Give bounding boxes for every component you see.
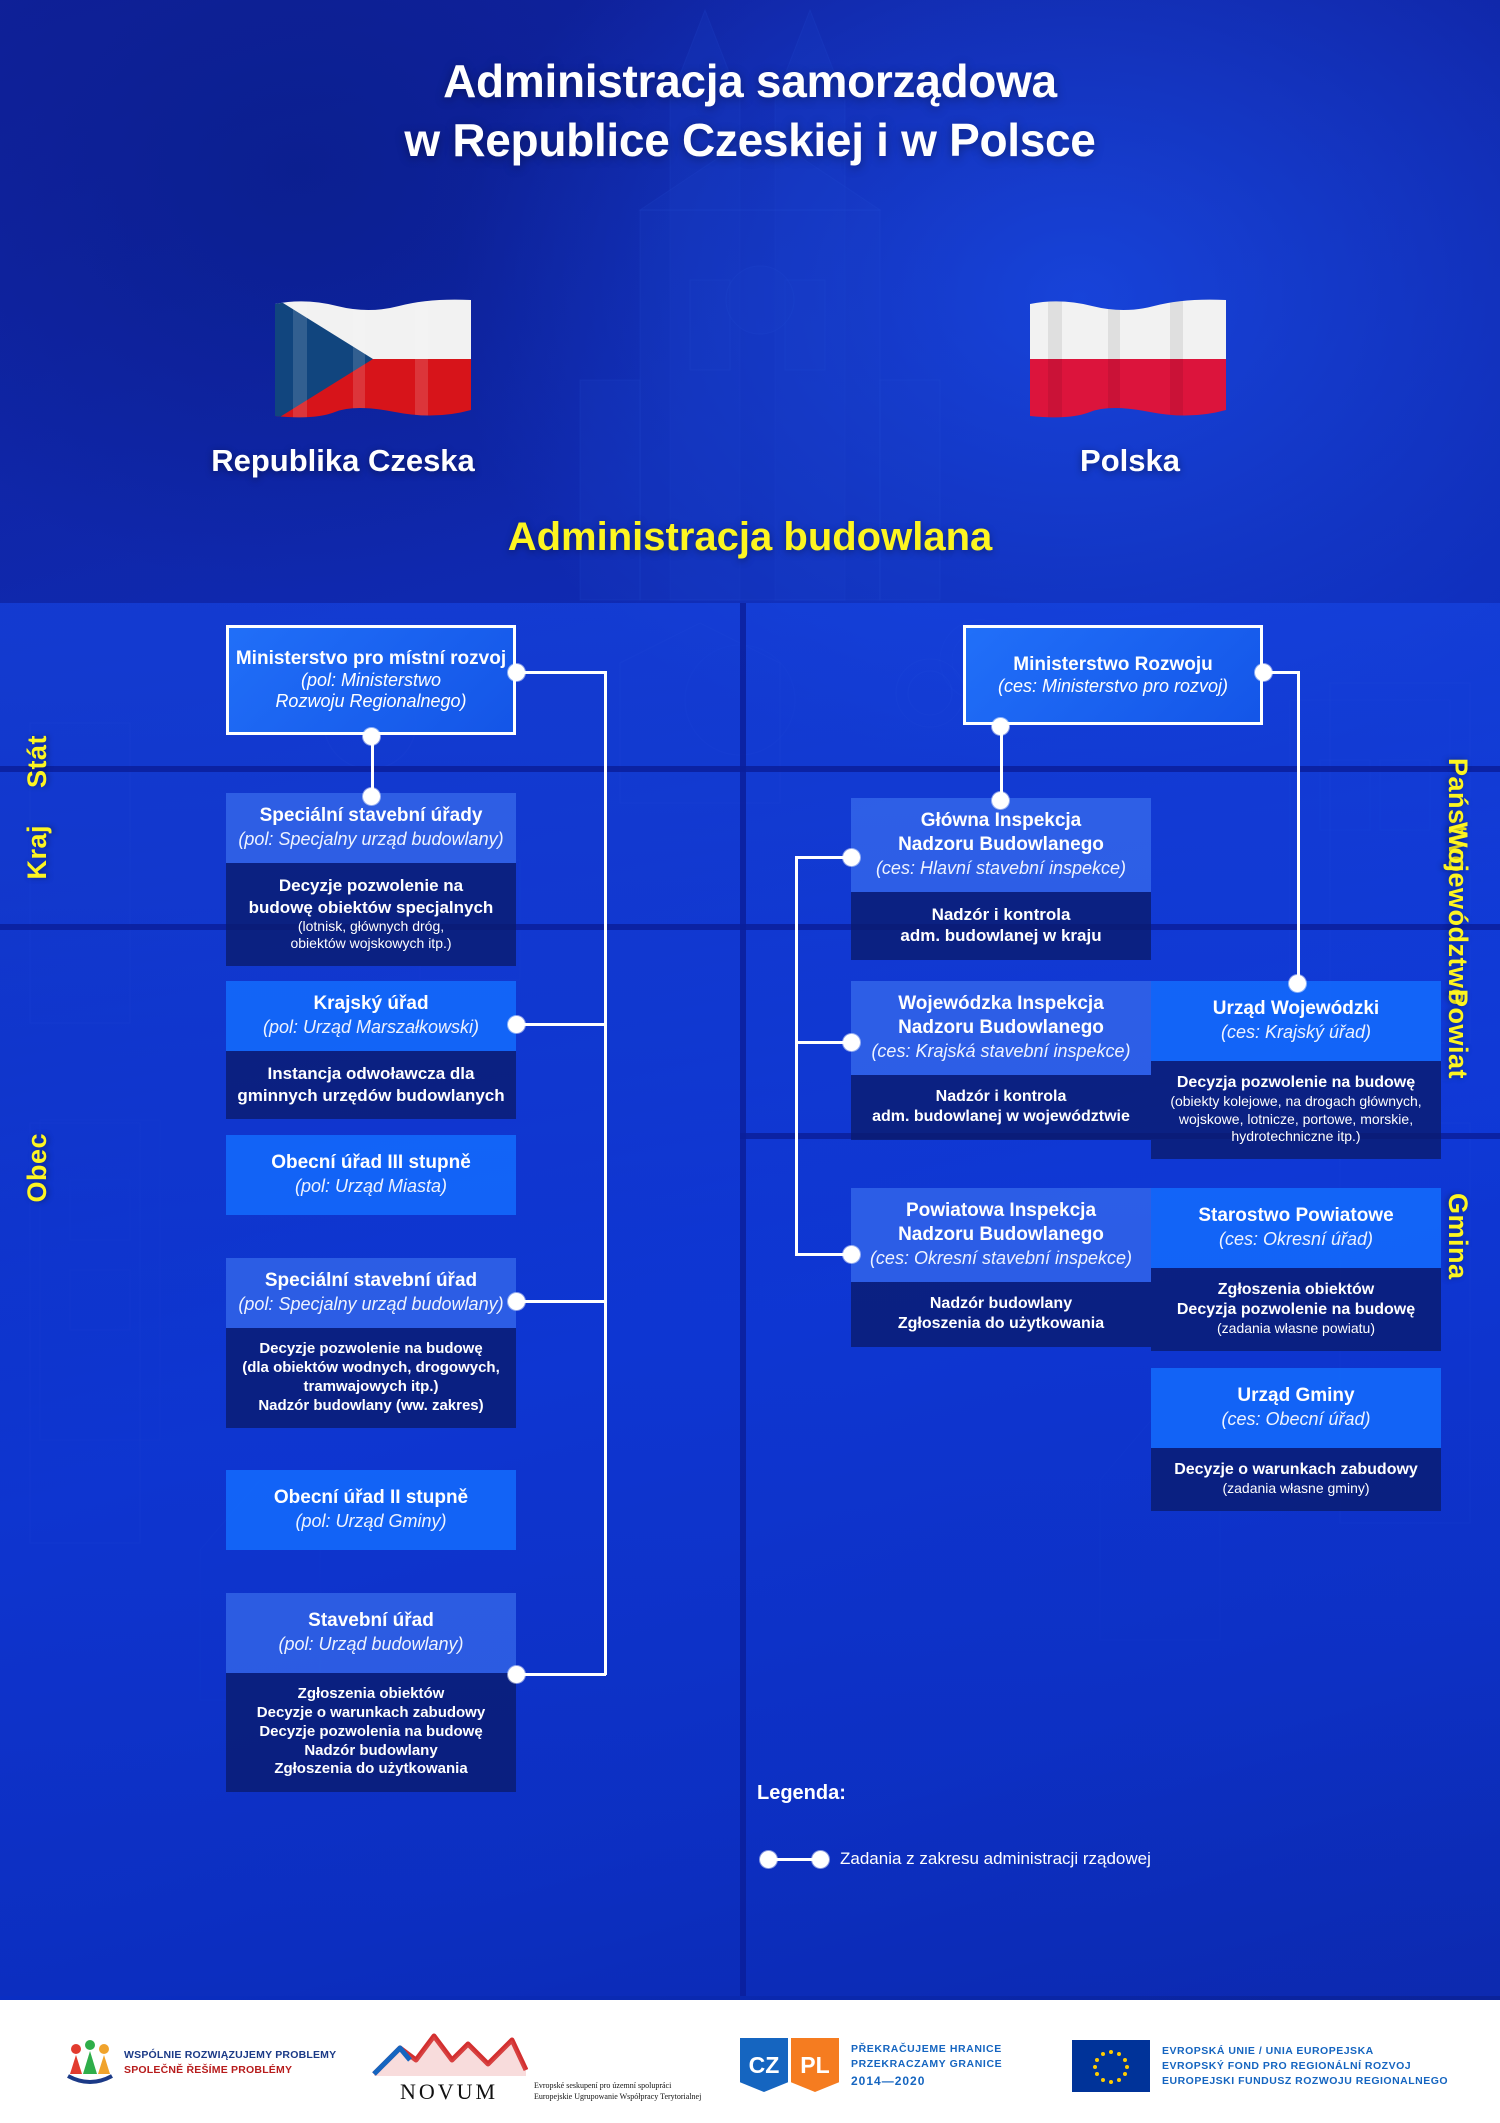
node-subtitle: (ces: Obecní úřad): [1163, 1408, 1429, 1431]
node-body: Decyzje pozwolenie na budowę obiektów sp…: [226, 863, 516, 966]
legend: Legenda:: [17, 1782, 846, 1805]
node-body-line2: budowę obiektów specjalnych: [236, 897, 506, 918]
node-body-line2: (dla obiektów wodnych, drogowych,: [236, 1359, 506, 1378]
node-header: Obecní úřad II stupně (pol: Urząd Gminy): [226, 1470, 516, 1550]
node-body-line4: Nadzór budowlany (ww. zakres): [236, 1397, 506, 1416]
connector-dot: [843, 1246, 860, 1263]
novum-wordmark: NOVUM: [370, 2079, 528, 2105]
wspolnie-logo: WSPÓLNIE ROZWIĄZUJEMY PROBLEMY SPOLEČNĚ …: [64, 2036, 336, 2088]
node-body: Nadzór i kontrola adm. budowlanej w woje…: [851, 1075, 1151, 1140]
connector-pl-right-spine: [1297, 671, 1300, 983]
node-title: Krajský úřad: [238, 992, 504, 1016]
node-body-line1: Instancja odwoławcza dla: [236, 1063, 506, 1084]
node-header: Urząd Wojewódzki (ces: Krajský úřad): [1151, 981, 1441, 1061]
node-body-line4: Nadzór budowlany: [236, 1742, 506, 1761]
node-subtitle: (pol: Urząd Marszałkowski): [238, 1016, 504, 1039]
node-subtitle: (pol: Urząd Gminy): [238, 1510, 504, 1533]
band-separator-cz-1: [0, 766, 740, 772]
node-body: Nadzór i kontrola adm. budowlanej w kraj…: [851, 892, 1151, 960]
czpl-line1: PŘEKRAČUJEME HRANICE: [851, 2043, 1002, 2055]
node-body-line1: Zgłoszenia obiektów: [236, 1685, 506, 1704]
level-label-stat: Stát: [22, 735, 53, 788]
connector-cz-spine-to-special-urad: [516, 1300, 606, 1303]
node-header: Urząd Gminy (ces: Obecní úřad): [1151, 1368, 1441, 1448]
node-subtitle: (ces: Ministerstvo pro rozvoj): [966, 676, 1260, 697]
node-header: Stavební úřad (pol: Urząd budowlany): [226, 1593, 516, 1673]
node-title: Ministerstvo pro místní rozvoj: [229, 648, 513, 670]
section-title: Administracja budowlana: [0, 515, 1500, 560]
node-body-line1: Nadzór i kontrola: [861, 904, 1141, 925]
czpl-line3: 2014—2020: [851, 2074, 1002, 2088]
node-specialni-stavebni-urady[interactable]: Speciální stavební úřady (pol: Specjalny…: [226, 793, 516, 966]
node-header: Speciální stavební úřad (pol: Specjalny …: [226, 1258, 516, 1328]
node-header: Starostwo Powiatowe (ces: Okresní úřad): [1151, 1188, 1441, 1268]
node-obecni-urad-iii-stupne[interactable]: Obecní úřad III stupně (pol: Urząd Miast…: [226, 1135, 516, 1215]
node-title: Stavební úřad: [238, 1609, 504, 1633]
band-separator-pl-1: [740, 766, 1500, 772]
node-title-line2: Nadzoru Budowlanego: [863, 1016, 1139, 1040]
node-header: Powiatowa Inspekcja Nadzoru Budowlanego …: [851, 1188, 1151, 1282]
node-urzad-gminy[interactable]: Urząd Gminy (ces: Obecní úřad) Decyzje o…: [1151, 1368, 1441, 1511]
node-title: Urząd Wojewódzki: [1163, 997, 1429, 1021]
node-body-line3: (zadania własne powiatu): [1161, 1320, 1431, 1338]
connector-dot: [843, 1034, 860, 1051]
node-body-line2: (obiekty kolejowe, na drogach głównych,: [1161, 1093, 1431, 1111]
node-subtitle: (pol: Urząd Miasta): [238, 1175, 504, 1198]
node-body-line1: Decyzje pozwolenie na: [236, 875, 506, 896]
node-header: Krajský úřad (pol: Urząd Marszałkowski): [226, 981, 516, 1051]
footer-logos: WSPÓLNIE ROZWIĄZUJEMY PROBLEMY SPOLEČNĚ …: [0, 2000, 1500, 2123]
connector-dot: [992, 792, 1009, 809]
node-body: Zgłoszenia obiektów Decyzja pozwolenie n…: [1151, 1268, 1441, 1351]
connector-dot: [843, 849, 860, 866]
connector-cz-spine-to-stavebni: [516, 1673, 606, 1676]
node-body: Zgłoszenia obiektów Decyzje o warunkach …: [226, 1673, 516, 1792]
diagram-panel: Stát Kraj Obec Państwo Województwo Powia…: [0, 603, 1500, 1996]
node-body-line1: Nadzór budowlany: [861, 1294, 1141, 1314]
node-header: Główna Inspekcja Nadzoru Budowlanego (ce…: [851, 798, 1151, 892]
node-title: Speciální stavební úřady: [238, 804, 504, 828]
czpl-logo: CZ PL PŘEKRAČUJEME HRANICE PRZEKRACZAMY …: [740, 2038, 1002, 2092]
connector-pl-ministry-to-ginb: [1000, 725, 1003, 798]
legend-dot-left: [760, 1851, 777, 1868]
node-body-line3: tramwajowych itp.): [236, 1378, 506, 1397]
connector-cz-spine-to-krajsky: [516, 1023, 606, 1026]
node-title: Ministerstwo Rozwoju: [966, 654, 1260, 676]
people-icon: [64, 2036, 116, 2088]
wspolnie-line2: SPOLEČNĚ ŘEŠÍME PROBLÉMY: [124, 2064, 336, 2076]
eu-flag-icon: [1072, 2040, 1150, 2092]
legend-item-label: Zadania z zakresu administracji rządowej: [840, 1849, 1151, 1869]
node-obecni-urad-ii-stupne[interactable]: Obecní úřad II stupně (pol: Urząd Gminy): [226, 1470, 516, 1550]
node-title-line1: Główna Inspekcja: [863, 809, 1139, 833]
node-subtitle: (ces: Okresní stavební inspekce): [863, 1247, 1139, 1270]
node-header: Obecní úřad III stupně (pol: Urząd Miast…: [226, 1135, 516, 1215]
eu-line1: EVROPSKÁ UNIE / UNIA EUROPEJSKA: [1162, 2045, 1448, 2057]
node-title: Urząd Gminy: [1163, 1384, 1429, 1408]
node-glowna-inspekcja-nadzoru-budowlanego[interactable]: Główna Inspekcja Nadzoru Budowlanego (ce…: [851, 798, 1151, 960]
node-body: Decyzje pozwolenie na budowę (dla obiekt…: [226, 1328, 516, 1428]
node-body: Nadzór budowlany Zgłoszenia do użytkowan…: [851, 1282, 1151, 1347]
node-body-line1: Nadzór i kontrola: [861, 1087, 1141, 1107]
connector-dot: [992, 718, 1009, 735]
level-label-obec: Obec: [22, 1133, 53, 1203]
node-subtitle: (pol: Specjalny urząd budowlany): [238, 828, 504, 851]
connector-dot: [1289, 975, 1306, 992]
node-title: Obecní úřad II stupně: [238, 1486, 504, 1510]
node-body: Instancja odwoławcza dla gminnych urzędó…: [226, 1051, 516, 1119]
node-specialni-stavebni-urad[interactable]: Speciální stavební úřad (pol: Specjalny …: [226, 1258, 516, 1428]
node-urzad-wojewodzki[interactable]: Urząd Wojewódzki (ces: Krajský úřad) Dec…: [1151, 981, 1441, 1159]
node-subtitle: (pol: Specjalny urząd budowlany): [238, 1293, 504, 1316]
node-body-line1: Decyzje pozwolenie na budowę: [236, 1340, 506, 1359]
level-label-kraj: Kraj: [22, 825, 53, 880]
novum-mountain-icon: [370, 2030, 528, 2076]
eu-line2: EVROPSKÝ FOND PRO REGIONÁLNÍ ROZVOJ: [1162, 2060, 1448, 2072]
node-body-line1: Zgłoszenia obiektów: [1161, 1280, 1431, 1300]
node-subtitle-line1: (pol: Ministerstwo: [229, 670, 513, 691]
node-title-line2: Nadzoru Budowlanego: [863, 833, 1139, 857]
node-header: Wojewódzka Inspekcja Nadzoru Budowlanego…: [851, 981, 1151, 1075]
node-title-line1: Wojewódzka Inspekcja: [863, 992, 1139, 1016]
node-subtitle: (pol: Urząd budowlany): [238, 1633, 504, 1656]
legend-title: Legenda:: [757, 1782, 846, 1805]
node-krajsky-urad[interactable]: Krajský úřad (pol: Urząd Marszałkowski) …: [226, 981, 516, 1119]
connector-dot: [363, 788, 380, 805]
node-title-line1: Powiatowa Inspekcja: [863, 1199, 1139, 1223]
node-wojewodzka-inspekcja-nadzoru-budowlanego[interactable]: Wojewódzka Inspekcja Nadzoru Budowlanego…: [851, 981, 1151, 1140]
connector-dot: [508, 1666, 525, 1683]
node-body-line2: gminnych urzędów budowlanych: [236, 1085, 506, 1106]
novum-line1: Evropské seskupení pro územní spolupráci: [534, 2081, 701, 2090]
node-stavebni-urad[interactable]: Stavební úřad (pol: Urząd budowlany) Zgł…: [226, 1593, 516, 1792]
wspolnie-line1: WSPÓLNIE ROZWIĄZUJEMY PROBLEMY: [124, 2049, 336, 2061]
connector-dot: [1255, 664, 1272, 681]
level-label-powiat: Powiat: [1442, 989, 1473, 1079]
connector-cz-spine-top: [516, 671, 606, 674]
czech-republic-flag: [275, 298, 471, 425]
connector-dot: [508, 664, 525, 681]
node-subtitle-line2: Rozwoju Regionalnego): [229, 691, 513, 712]
country-label-czech: Republika Czeska: [198, 443, 488, 479]
connector-cz-spine-vertical: [604, 671, 607, 1675]
node-subtitle: (ces: Krajská stavební inspekce): [863, 1040, 1139, 1063]
node-title-line2: Nadzoru Budowlanego: [863, 1223, 1139, 1247]
node-body-line3: (lotnisk, głównych dróg,: [236, 918, 506, 936]
infographic-page: Administracja samorządowa w Republice Cz…: [0, 0, 1500, 2123]
novum-line2: Europejskie Ugrupowanie Współpracy Teryt…: [534, 2092, 701, 2101]
node-body-line4: obiektów wojskowych itp.): [236, 935, 506, 953]
czpl-pl-block: PL: [791, 2038, 839, 2092]
node-subtitle: (ces: Krajský úřad): [1163, 1021, 1429, 1044]
node-ministerstvo-pro-mistni-rozvoj[interactable]: Ministerstvo pro místní rozvoj (pol: Min…: [226, 625, 516, 735]
connector-dot: [363, 728, 380, 745]
node-body-line4: hydrotechniczne itp.): [1161, 1128, 1431, 1146]
node-body-line2: Decyzja pozwolenie na budowę: [1161, 1300, 1431, 1320]
connector-dot: [508, 1293, 525, 1310]
node-title: Starostwo Powiatowe: [1163, 1204, 1429, 1228]
poland-flag: [1030, 298, 1226, 425]
page-title: Administracja samorządowa w Republice Cz…: [0, 52, 1500, 170]
node-powiatowa-inspekcja-nadzoru-budowlanego[interactable]: Powiatowa Inspekcja Nadzoru Budowlanego …: [851, 1188, 1151, 1347]
node-title: Obecní úřad III stupně: [238, 1151, 504, 1175]
node-body-line1: Decyzje o warunkach zabudowy: [1161, 1460, 1431, 1480]
node-starostwo-powiatowe[interactable]: Starostwo Powiatowe (ces: Okresní úřad) …: [1151, 1188, 1441, 1351]
country-label-poland: Polska: [985, 443, 1275, 479]
connector-dot: [508, 1016, 525, 1033]
node-body-line2: (zadania własne gminy): [1161, 1480, 1431, 1498]
node-body-line5: Zgłoszenia do użytkowania: [236, 1760, 506, 1779]
czpl-line2: PRZEKRACZAMY GRANICE: [851, 2058, 1002, 2070]
eu-logo: EVROPSKÁ UNIE / UNIA EUROPEJSKA EVROPSKÝ…: [1072, 2040, 1448, 2092]
level-label-gmina: Gmina: [1442, 1193, 1473, 1280]
title-line-1: Administracja samorządowa: [0, 52, 1500, 111]
novum-logo: NOVUM Evropské seskupení pro územní spol…: [370, 2030, 701, 2105]
title-line-2: w Republice Czeskiej i w Polsce: [0, 111, 1500, 170]
node-body-line2: adm. budowlanej w województwie: [861, 1107, 1141, 1127]
node-title: Speciální stavební úřad: [238, 1269, 504, 1293]
node-body-line3: Decyzje pozwolenia na budowę: [236, 1723, 506, 1742]
czpl-cz-block: CZ: [740, 2038, 788, 2092]
node-body-line3: wojskowe, lotnicze, portowe, morskie,: [1161, 1111, 1431, 1129]
node-body-line2: adm. budowlanej w kraju: [861, 925, 1141, 946]
connector-pl-left-spine: [795, 856, 798, 1256]
legend-dot-right: [812, 1851, 829, 1868]
eu-line3: EUROPEJSKI FUNDUSZ ROZWOJU REGIONALNEGO: [1162, 2075, 1448, 2087]
level-label-wojewodztwo: Województwo: [1442, 822, 1473, 1005]
node-body-line2: Decyzje o warunkach zabudowy: [236, 1704, 506, 1723]
node-body-line1: Decyzja pozwolenie na budowę: [1161, 1073, 1431, 1093]
node-body: Decyzje o warunkach zabudowy (zadania wł…: [1151, 1448, 1441, 1511]
node-body-line2: Zgłoszenia do użytkowania: [861, 1314, 1141, 1334]
node-body: Decyzja pozwolenie na budowę (obiekty ko…: [1151, 1061, 1441, 1159]
node-subtitle: (ces: Hlavní stavební inspekce): [863, 857, 1139, 880]
node-subtitle: (ces: Okresní úřad): [1163, 1228, 1429, 1251]
node-ministerstwo-rozwoju[interactable]: Ministerstwo Rozwoju (ces: Ministerstvo …: [963, 625, 1263, 725]
